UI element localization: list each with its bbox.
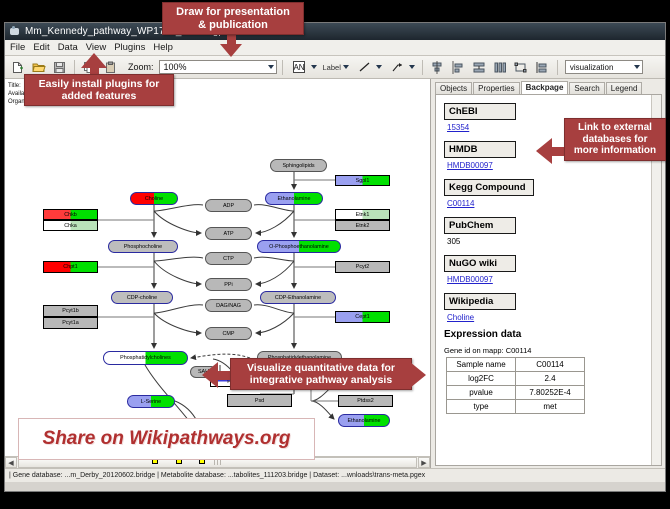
font-icon[interactable]: AN [290,58,309,77]
node-label: Ethanolamine [278,196,311,202]
node-label: Chpt1 [63,264,77,270]
callout-visualize-arrow-right-icon [410,362,426,388]
table-row: Sample name C00114 [447,358,585,372]
expression-key-pvalue: pvalue [447,386,516,400]
node-label: Phosphatidylcholines [120,355,171,361]
node-label: Cept1 [355,314,369,320]
menu-item-data[interactable]: Data [58,42,78,53]
metabolite-node-cmp[interactable]: CMP [205,327,252,340]
tab-backpage[interactable]: Backpage [521,81,569,94]
expression-data-heading: Expression data [444,329,661,340]
db-header-nugo-wiki: NuGO wiki [444,255,516,272]
node-label: CDP-Ethanolamine [275,295,321,301]
metabolite-node-cdp-ethanolamine[interactable]: CDP-Ethanolamine [260,291,336,304]
metabolite-node-cdp-choline[interactable]: CDP-choline [111,291,173,304]
metabolite-node-ppi[interactable]: PPi [205,278,252,291]
label-tool-dropdown[interactable]: Label [323,63,349,72]
node-label: Etnk2 [356,223,370,229]
zoom-label: Zoom: [128,62,154,72]
gene-node-chka[interactable]: Chka [43,220,98,231]
db-value-pubchem: 305 [447,237,661,246]
tab-search[interactable]: Search [569,82,604,94]
chevron-down-icon[interactable] [409,65,415,69]
node-label: CMP [223,331,235,337]
node-label: PPi [224,282,232,288]
order-icon[interactable] [533,58,552,77]
callout-plugins-text: Easily install plugins for added feature… [25,75,173,105]
table-row: pvalue 7.80252E-4 [447,386,585,400]
pathway-canvas[interactable]: Title: Availa Organ [5,79,431,468]
db-link-kegg[interactable]: C00114 [447,199,661,208]
node-label: L-Serine [141,399,161,405]
metabolite-node-phosphatidylcholines[interactable]: Phosphatidylcholines [103,351,188,365]
callout-plugins: Easily install plugins for added feature… [24,74,174,106]
status-bar: | Gene database: ...m_Derby_20120602.bri… [5,468,665,482]
menu-item-help[interactable]: Help [153,42,173,53]
line-tool-dropdown[interactable] [355,58,382,77]
align-center-icon[interactable] [428,58,447,77]
gene-node-pcyt2[interactable]: Pcyt2 [335,261,390,273]
interaction-tool-dropdown[interactable] [388,58,415,77]
expression-value-type: met [516,400,585,414]
tab-legend[interactable]: Legend [606,82,643,94]
toolbar-separator-3 [422,60,423,75]
node-label: Ethanolamine [348,418,381,424]
db-header-chebi: ChEBI [444,103,516,120]
metabolite-node-ethanolamine-top[interactable]: Ethanolamine [265,192,323,205]
db-link-wikipedia[interactable]: Choline [447,313,661,322]
metabolite-node-ctp[interactable]: CTP [205,252,252,265]
canvas-meta-organism: Organ [8,98,25,106]
canvas-metadata: Title: Availa Organ [8,82,25,106]
callout-visualize: Visualize quantitative data for integrat… [230,358,412,390]
line-icon[interactable] [355,58,374,77]
callout-draw-text: Draw for presentation & publication [163,3,303,34]
expression-table: Sample name C00114 log2FC 2.4 pvalue 7.8… [446,357,585,414]
node-label: Etnk1 [356,212,370,218]
node-label: Chkb [64,212,77,218]
pathway-edges [5,79,430,468]
chevron-down-icon [268,65,274,69]
metabolite-node-atp[interactable]: ATP [205,227,252,240]
svg-text:AN: AN [293,63,304,72]
metabolite-node-adp[interactable]: ADP [205,199,252,212]
canvas-meta-availability: Availa [8,90,25,98]
expression-value-sample-name: C00114 [516,358,585,372]
node-label: DAG/NAG [216,303,241,309]
toolbar-separator [74,60,75,75]
menu-item-file[interactable]: File [10,42,25,53]
chevron-down-icon[interactable] [376,65,382,69]
callout-draw: Draw for presentation & publication [162,2,304,35]
metabolite-node-sphingolipids[interactable]: Sphingolipids [270,159,327,172]
status-bar-text: | Gene database: ...m_Derby_20120602.bri… [9,472,425,479]
expression-key-type: type [447,400,516,414]
visualization-value: visualization [570,63,614,72]
table-row: type met [447,400,585,414]
node-label: Ptdss2 [357,398,373,404]
table-row: log2FC 2.4 [447,372,585,386]
tab-objects[interactable]: Objects [435,82,472,94]
node-label: CDP-choline [127,295,157,301]
share-banner-text: Share on Wikipathways.org [43,428,291,450]
gene-node-ptdss2[interactable]: Ptdss2 [338,395,393,407]
db-header-kegg: Kegg Compound [444,179,534,196]
zoom-combo[interactable]: 100% [159,60,277,74]
metabolite-node-ethanolamine-right[interactable]: Ethanolamine [338,414,390,427]
share-banner: Share on Wikipathways.org [18,418,315,460]
node-label: Sgpl1 [356,178,370,184]
node-label: Choline [145,196,163,202]
callout-draw-arrow-icon [220,44,242,57]
gene-node-sgpl1[interactable]: Sgpl1 [335,175,390,186]
scroll-right-icon[interactable]: ▶ [418,457,430,468]
gene-node-chkb[interactable]: Chkb [43,209,98,220]
callout-visualize-arrow-icon [202,362,218,388]
gene-node-etnk1[interactable]: Etnk1 [335,209,390,220]
callout-visualize-text: Visualize quantitative data for integrat… [231,359,411,389]
toolbar-separator-2 [282,60,283,75]
gene-node-cept1[interactable]: Cept1 [335,311,390,323]
db-header-hmdb: HMDB [444,141,516,158]
node-label: Psd [255,398,264,404]
db-header-pubchem: PubChem [444,217,516,234]
metabolite-node-l-serine-left[interactable]: L-Serine [127,395,175,408]
chevron-down-icon [634,65,640,69]
metabolite-node-dag-nag[interactable]: DAG/NAG [205,299,252,312]
callout-links: Link to external databases for more info… [564,118,666,161]
font-tool-dropdown[interactable]: AN [290,58,317,77]
gene-node-psd[interactable]: Psd [227,394,292,407]
menu-item-view[interactable]: View [86,42,106,53]
node-label: Pcyt1a [62,320,78,326]
node-label: Sphingolipids [282,163,314,169]
node-label: Pcyt1b [62,308,78,314]
metabolite-node-choline-top[interactable]: Choline [130,192,178,205]
metabolite-node-phosphocholine[interactable]: Phosphocholine [108,240,178,253]
db-header-wikipedia: Wikipedia [444,293,516,310]
callout-links-text: Link to external databases for more info… [565,119,665,160]
gene-node-etnk2[interactable]: Etnk2 [335,220,390,231]
metabolite-node-o-phosphoethanolamine[interactable]: O-Phosphoethanolamine [257,240,341,253]
interaction-arrow-icon[interactable] [388,58,407,77]
expression-key-sample-name: Sample name [447,358,516,372]
gene-id-on-mapp: Gene id on mapp: C00114 [444,346,661,355]
visualization-combo[interactable]: visualization [565,60,643,74]
gene-node-pcyt1a[interactable]: Pcyt1a [43,317,98,329]
chevron-down-icon[interactable] [343,65,349,69]
node-label: Chka [64,223,77,229]
node-label: ADP [223,203,234,209]
title-bar: Mm_Kennedy_pathway_WP1771_45176.gpml [5,23,665,40]
db-link-hmdb[interactable]: HMDB00097 [447,161,661,170]
label-tool-label: Label [323,63,341,72]
scroll-left-icon[interactable]: ◀ [5,457,17,468]
node-label: Phosphocholine [124,244,162,250]
node-label: ATP [223,231,233,237]
node-label: O-Phosphoethanolamine [269,244,329,250]
expression-key-log2fc: log2FC [447,372,516,386]
callout-plugins-arrow-icon [81,53,107,68]
expression-value-pvalue: 7.80252E-4 [516,386,585,400]
group-icon[interactable] [512,58,531,77]
node-label: Pcyt2 [356,264,369,270]
tab-properties[interactable]: Properties [473,82,519,94]
zoom-value: 100% [164,62,187,72]
menu-item-plugins[interactable]: Plugins [114,42,145,53]
app-icon [9,26,20,37]
distribute-icon[interactable] [491,58,510,77]
expression-value-log2fc: 2.4 [516,372,585,386]
chevron-down-icon[interactable] [311,65,317,69]
canvas-meta-title: Title: [8,82,25,90]
side-panel-tabs: Objects Properties Backpage Search Legen… [431,79,665,94]
stack-vertical-icon[interactable] [470,58,489,77]
toolbar-separator-4 [557,60,558,75]
gene-node-chpt1[interactable]: Chpt1 [43,261,98,273]
align-left-icon[interactable] [449,58,468,77]
callout-links-arrow-icon [536,138,552,164]
db-link-nugo-wiki[interactable]: HMDB00097 [447,275,661,284]
menu-item-edit[interactable]: Edit [33,42,49,53]
node-label: CTP [223,256,234,262]
gene-node-pcyt1b[interactable]: Pcyt1b [43,305,98,317]
